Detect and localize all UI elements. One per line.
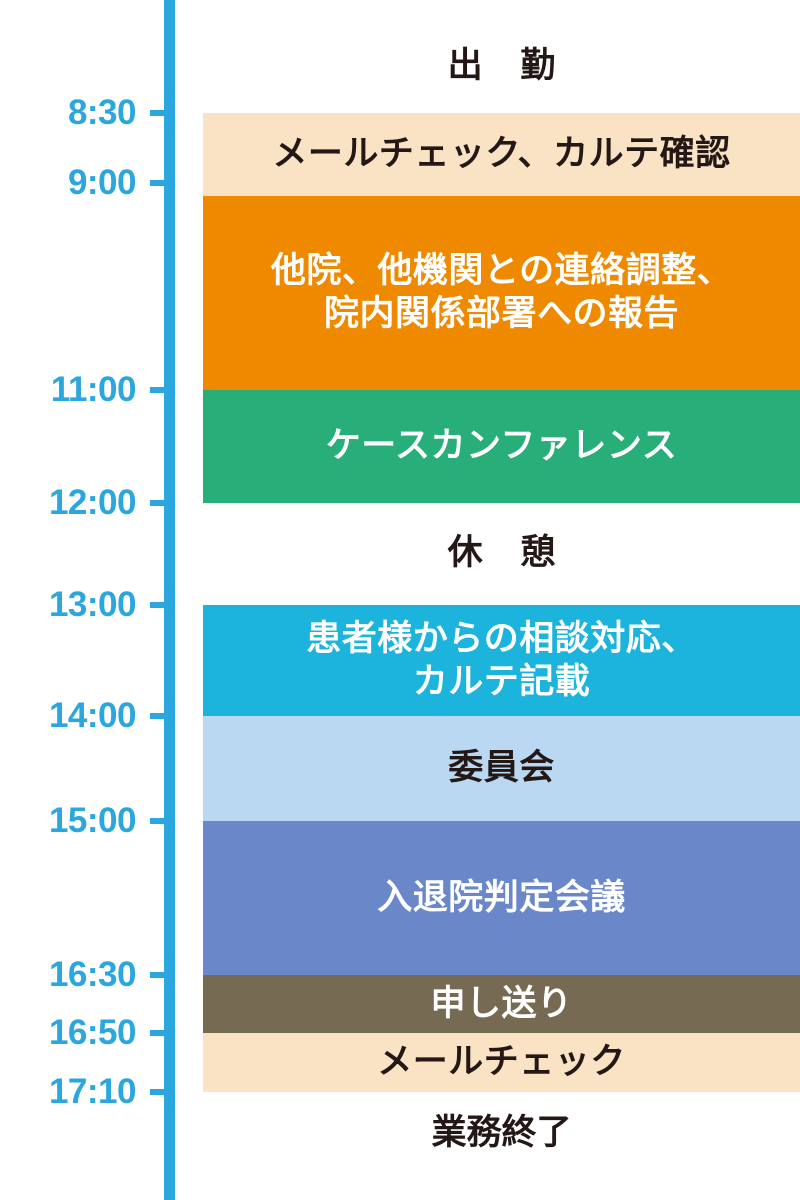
schedule-blocks: メールチェック、カルテ確認他院、他機関との連絡調整、 院内関係部署への報告ケース… [203,0,800,1200]
tick-mark-icon [150,972,172,978]
time-label: 8:30 [0,95,136,130]
tick-mark-icon [150,818,172,824]
schedule-block-external-coordination[interactable]: 他院、他機関との連絡調整、 院内関係部署への報告 [203,196,800,390]
schedule-block-label: 入退院判定会議 [371,877,632,920]
schedule-block-label: メールチェック [371,1041,632,1084]
schedule-timeline: 8:309:0011:0012:0013:0014:0015:0016:3016… [0,0,800,1200]
time-label: 17:10 [0,1074,136,1109]
schedule-block-patient-consultation[interactable]: 患者様からの相談対応、 カルテ記載 [203,605,800,716]
schedule-block-label: 他院、他機関との連絡調整、 院内関係部署への報告 [265,250,738,335]
tick-mark-icon [150,713,172,719]
time-label: 15:00 [0,803,136,838]
tick-mark-icon [150,387,172,393]
caption-end-of-work: 業務終了 [203,1115,800,1150]
time-label: 11:00 [0,372,136,407]
schedule-block-admission-discharge-meeting[interactable]: 入退院判定会議 [203,821,800,975]
time-label: 14:00 [0,698,136,733]
tick-mark-icon [150,1030,172,1036]
time-label: 12:00 [0,485,136,520]
schedule-block-mail-check-evening[interactable]: メールチェック [203,1033,800,1092]
schedule-block-label: 患者様からの相談対応、 カルテ記載 [300,618,703,703]
schedule-block-mail-check-chart[interactable]: メールチェック、カルテ確認 [203,113,800,196]
time-label: 16:50 [0,1015,136,1050]
schedule-block-case-conference[interactable]: ケースカンファレンス [203,390,800,503]
schedule-block-label: 委員会 [442,747,561,790]
time-label: 13:00 [0,587,136,622]
schedule-block-handover[interactable]: 申し送り [203,975,800,1033]
schedule-block-label: ケースカンファレンス [320,425,684,468]
time-label: 16:30 [0,957,136,992]
tick-mark-icon [150,602,172,608]
tick-mark-icon [150,180,172,186]
schedule-block-label: メールチェック、カルテ確認 [266,133,736,176]
schedule-block-label: 申し送り [424,983,578,1026]
tick-mark-icon [150,110,172,116]
caption-break: 休 憩 [203,535,800,570]
tick-mark-icon [150,500,172,506]
schedule-block-committee[interactable]: 委員会 [203,716,800,821]
time-label: 9:00 [0,165,136,200]
tick-mark-icon [150,1089,172,1095]
